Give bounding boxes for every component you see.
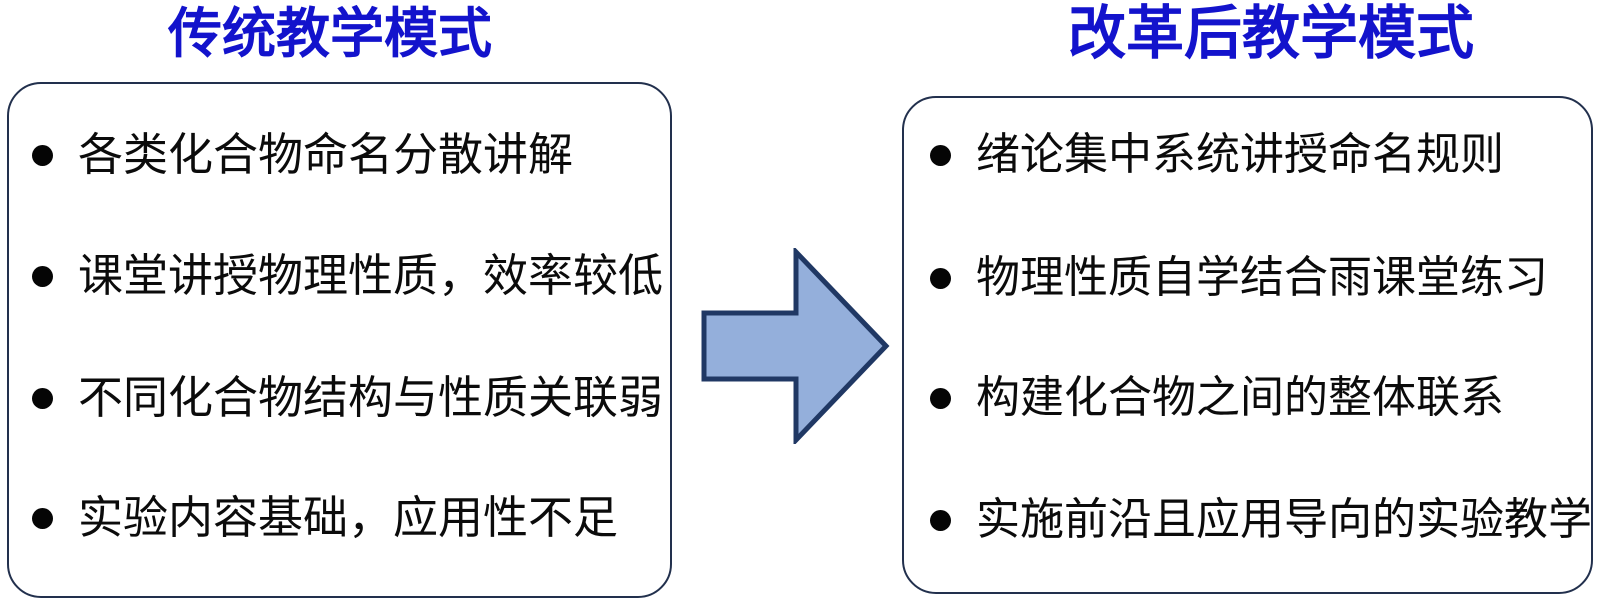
left-panel-bullet-list: 各类化合物命名分散讲解 课堂讲授物理性质，效率较低 不同化合物结构与性质关联弱 … xyxy=(9,84,670,596)
list-item-label: 不同化合物结构与性质关联弱 xyxy=(78,373,663,423)
bullet-dot-icon xyxy=(32,266,53,287)
bullet-dot-icon xyxy=(930,388,951,409)
list-item-label: 物理性质自学结合雨课堂练习 xyxy=(976,253,1548,303)
list-item-label: 课堂讲授物理性质，效率较低 xyxy=(78,251,663,301)
list-item: 实施前沿且应用导向的实验教学 xyxy=(930,495,1592,545)
list-item: 课堂讲授物理性质，效率较低 xyxy=(32,251,663,301)
list-item: 不同化合物结构与性质关联弱 xyxy=(32,373,663,423)
list-item: 绪论集中系统讲授命名规则 xyxy=(930,130,1504,180)
list-item-label: 各类化合物命名分散讲解 xyxy=(78,130,573,180)
right-panel-bullet-list: 绪论集中系统讲授命名规则 物理性质自学结合雨课堂练习 构建化合物之间的整体联系 … xyxy=(904,98,1591,592)
list-item: 实验内容基础，应用性不足 xyxy=(32,493,618,543)
bullet-dot-icon xyxy=(930,510,951,531)
list-item-label: 构建化合物之间的整体联系 xyxy=(976,373,1504,423)
list-item-label: 实施前沿且应用导向的实验教学 xyxy=(976,495,1592,545)
left-panel-title: 传统教学模式 xyxy=(168,0,492,68)
list-item: 构建化合物之间的整体联系 xyxy=(930,373,1504,423)
right-panel-title: 改革后教学模式 xyxy=(1068,0,1474,70)
list-item: 各类化合物命名分散讲解 xyxy=(32,130,573,180)
list-item: 物理性质自学结合雨课堂练习 xyxy=(930,253,1548,303)
bullet-dot-icon xyxy=(32,388,53,409)
bullet-dot-icon xyxy=(930,145,951,166)
right-block-arrow-icon xyxy=(700,248,890,444)
bullet-dot-icon xyxy=(32,508,53,529)
bullet-dot-icon xyxy=(32,145,53,166)
bullet-dot-icon xyxy=(930,268,951,289)
list-item-label: 绪论集中系统讲授命名规则 xyxy=(976,130,1504,180)
list-item-label: 实验内容基础，应用性不足 xyxy=(78,493,618,543)
right-panel-box: 绪论集中系统讲授命名规则 物理性质自学结合雨课堂练习 构建化合物之间的整体联系 … xyxy=(902,96,1593,594)
left-panel-box: 各类化合物命名分散讲解 课堂讲授物理性质，效率较低 不同化合物结构与性质关联弱 … xyxy=(7,82,672,598)
